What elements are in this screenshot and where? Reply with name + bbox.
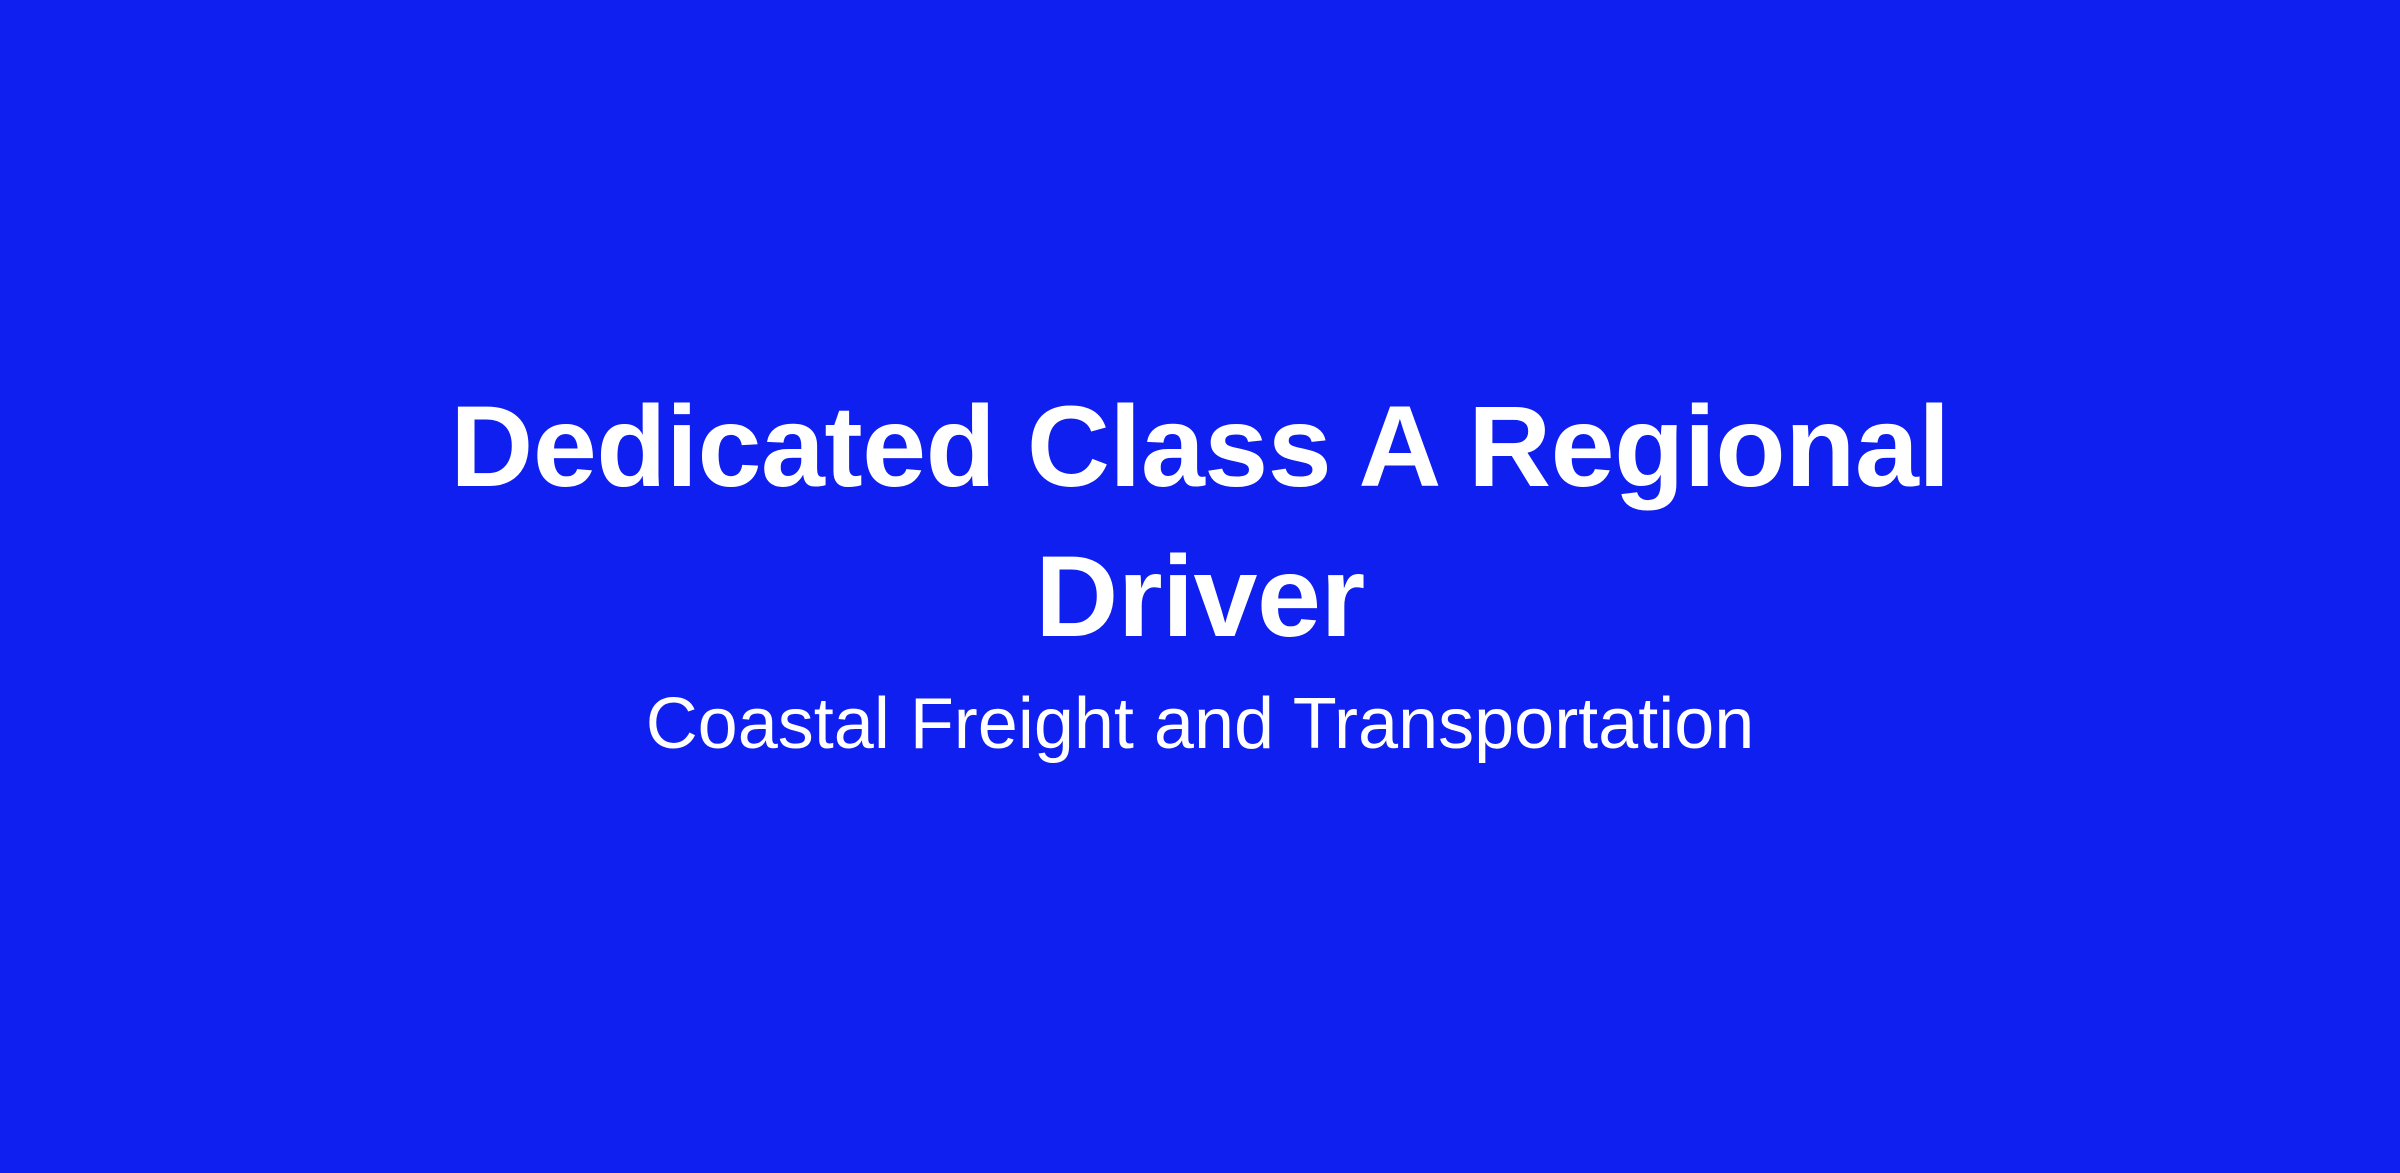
job-title: Dedicated Class A Regional Driver [380, 372, 2020, 672]
company-name: Coastal Freight and Transportation [380, 678, 2020, 770]
hero-text-block: Dedicated Class A Regional Driver Coasta… [380, 372, 2020, 770]
job-posting-hero-banner: Dedicated Class A Regional Driver Coasta… [0, 0, 2400, 1173]
